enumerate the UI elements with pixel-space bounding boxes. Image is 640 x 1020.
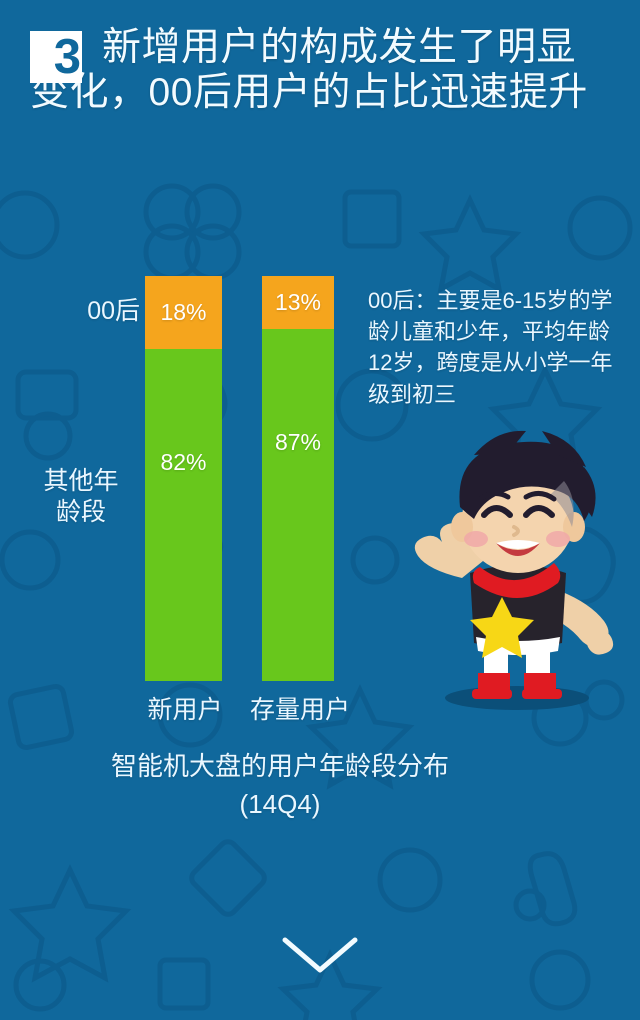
section-number-label: 3 [30, 31, 82, 83]
page-title: 新增用户的构成发生了明显变化，00后用户的占比迅速提升 [30, 26, 606, 116]
chevron-down-icon[interactable] [275, 930, 365, 978]
chart-caption-title: 智能机大盘的用户年龄段分布 [40, 748, 520, 786]
title-row: 3 新增用户的构成发生了明显变化，00后用户的占比迅速提升 [30, 26, 606, 116]
chart-caption: 智能机大盘的用户年龄段分布 (14Q4) [40, 748, 520, 823]
bar-segment-00hou: 13% [262, 276, 334, 329]
legend-label-00hou: 00后 [40, 296, 140, 327]
bar-segment-other: 82% [145, 349, 222, 681]
legend-label-other-ages: 其他年 龄段 [22, 466, 140, 527]
section-number-badge: 3 [30, 31, 82, 83]
annotation-text: 00后：主要是6-15岁的学龄儿童和少年，平均年龄12岁，跨度是从小学一年级到初… [368, 285, 630, 410]
header: 3 新增用户的构成发生了明显变化，00后用户的占比迅速提升 [0, 0, 640, 116]
bar-segment-other: 87% [262, 329, 334, 681]
legend-label-other-ages-line2: 龄段 [22, 497, 140, 528]
bar-value-00hou-new: 18% [160, 299, 206, 326]
bar-value-00hou-existing: 13% [275, 289, 321, 316]
scroll-down-hint[interactable] [0, 930, 640, 983]
bar-category-new-users: 新用户 [130, 690, 240, 726]
bar-value-other-existing: 87% [275, 429, 321, 456]
bar-existing-users[interactable]: 13% 87% [262, 276, 334, 681]
legend-label-other-ages-line1: 其他年 [22, 466, 140, 497]
bar-value-other-new: 82% [160, 449, 206, 476]
cartoon-boy-illustration [392, 415, 640, 710]
chart-caption-subtitle: (14Q4) [40, 786, 520, 824]
bar-category-existing-users: 存量用户 [240, 690, 360, 726]
bar-new-users[interactable]: 18% 82% [145, 276, 222, 681]
bar-segment-00hou: 18% [145, 276, 222, 349]
